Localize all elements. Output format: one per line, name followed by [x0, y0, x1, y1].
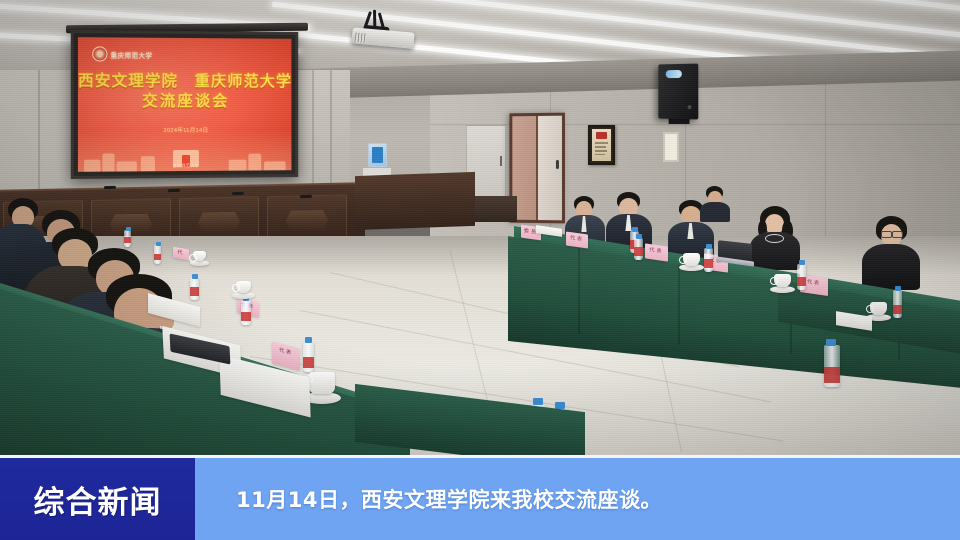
name-card: 代表	[566, 231, 588, 248]
name-card: 代表	[645, 243, 668, 261]
teacup	[774, 274, 791, 287]
projection-screen: 重庆师范大学 西安文理学院 重庆师范大学 交流座谈会 2024年11月14日	[71, 30, 298, 179]
framed-notice	[663, 132, 679, 162]
framed-certificate	[588, 125, 615, 165]
water-bottle	[154, 245, 161, 264]
projected-slide: 重庆师范大学 西安文理学院 重庆师范大学 交流座谈会 2024年11月14日	[78, 37, 292, 172]
water-bottle	[797, 264, 806, 290]
screenshot-root: 重庆师范大学 西安文理学院 重庆师范大学 交流座谈会 2024年11月14日	[0, 0, 960, 540]
news-category-block: 综合新闻	[0, 458, 195, 540]
microphone	[104, 186, 116, 189]
water-bottle	[241, 300, 251, 325]
caption-text: 11月14日，西安文理学院来我校交流座谈。	[236, 484, 662, 514]
microphone	[168, 189, 180, 192]
microphone	[300, 195, 312, 198]
speaker-led-icon	[688, 105, 692, 109]
microphone	[232, 192, 244, 195]
water-bottle	[893, 290, 902, 318]
saucer	[232, 292, 255, 299]
slide-title-line2: 交流座谈会	[78, 92, 292, 112]
certificate-paper	[592, 129, 611, 161]
panel-diamond-motif	[198, 212, 240, 233]
university-emblem-icon	[92, 46, 107, 61]
water-bottle	[634, 238, 643, 260]
slide-university-logo: 重庆师范大学	[92, 46, 152, 61]
wood-wainscot-right	[355, 172, 475, 230]
attendee-right-6	[700, 186, 730, 220]
water-bottle	[824, 345, 840, 387]
panel-diamond-motif	[110, 214, 152, 235]
teacup	[309, 372, 335, 394]
caption-block: 11月14日，西安文理学院来我校交流座谈。	[195, 458, 960, 540]
attendee-right-2	[606, 192, 652, 250]
projector-vents	[355, 33, 367, 44]
door-handle-icon	[556, 160, 559, 169]
wall-speaker	[658, 64, 698, 120]
news-category-label: 综合新闻	[34, 477, 162, 522]
panel-handle-icon	[500, 156, 502, 166]
attendee-right-5	[862, 216, 920, 288]
slide-logo-text: 重庆师范大学	[111, 49, 153, 59]
teacup	[870, 302, 887, 315]
saucer	[770, 286, 795, 293]
wooden-double-door	[509, 113, 565, 224]
caption-banner: 综合新闻 11月14日，西安文理学院来我校交流座谈。	[0, 455, 960, 540]
news-photograph: 重庆师范大学 西安文理学院 重庆师范大学 交流座谈会 2024年11月14日	[0, 0, 960, 455]
accessibility-sign-icon	[368, 143, 387, 167]
certificate-header	[596, 132, 607, 139]
water-bottle	[303, 342, 314, 372]
slide-title: 西安文理学院 重庆师范大学 交流座谈会	[78, 72, 292, 113]
water-bottle	[704, 248, 713, 272]
water-bottle	[124, 230, 131, 247]
speaker-badge	[666, 70, 682, 78]
slide-skyline-decoration: 重庆师范大学	[78, 131, 292, 172]
teacup	[683, 253, 700, 266]
slide-title-line1: 西安文理学院 重庆师范大学	[78, 72, 292, 93]
water-bottle	[190, 278, 199, 300]
panel-diamond-motif	[286, 210, 328, 231]
attendee-right-4	[748, 206, 800, 268]
